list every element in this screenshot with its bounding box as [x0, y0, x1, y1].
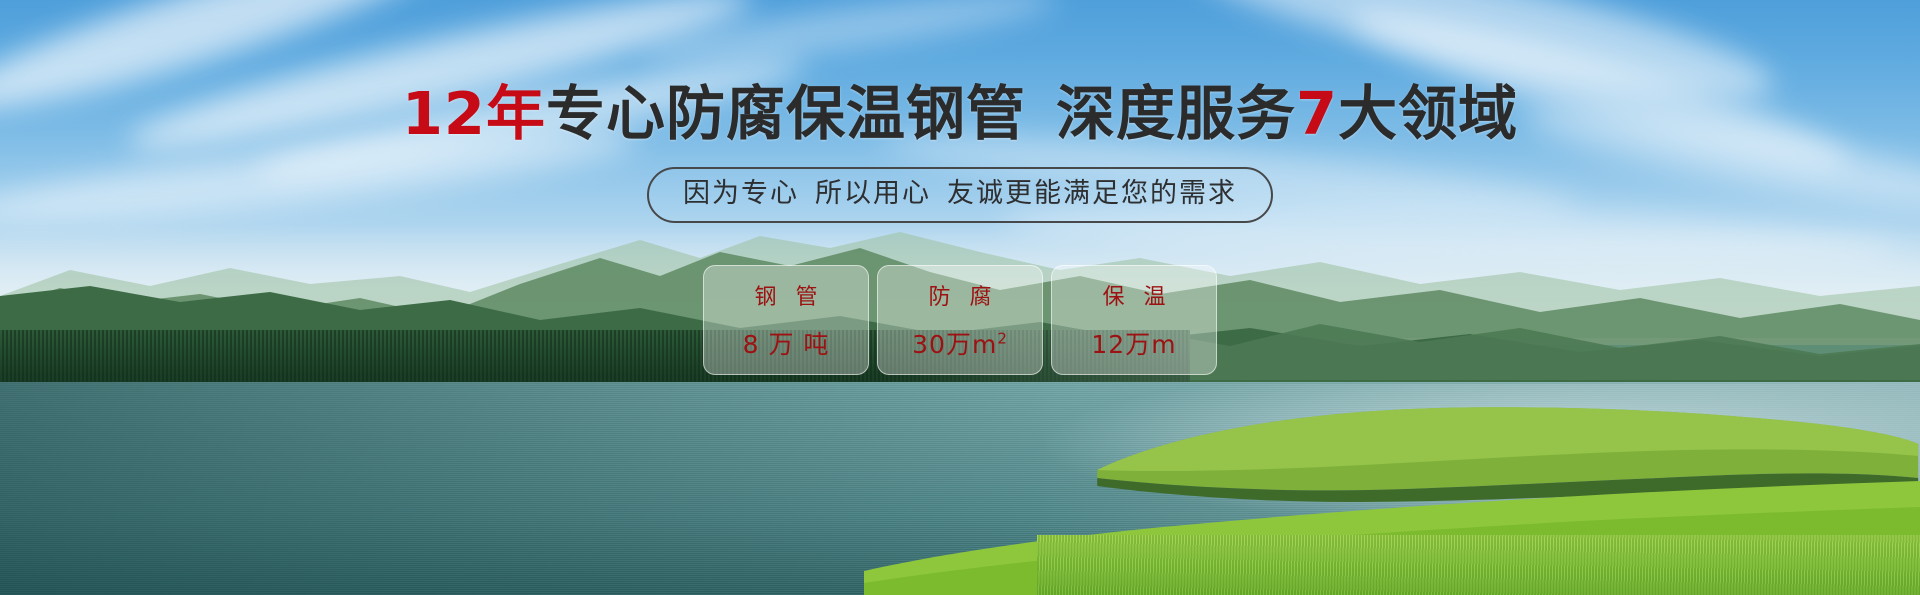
hero-banner: 12年专心防腐保温钢管深度服务7大领域 因为专心所以用心友诚更能满足您的需求 钢… — [0, 0, 1920, 595]
stat-card-label: 保 温 — [1097, 279, 1172, 311]
stat-value-text: 12万m — [1091, 330, 1176, 359]
headline-tail-text: 大领域 — [1338, 79, 1518, 148]
subtitle-part-1: 因为专心 — [683, 178, 799, 209]
banner-headline: 12年专心防腐保温钢管深度服务7大领域 — [0, 84, 1920, 143]
stat-card-group: 钢 管 8 万 吨 防 腐 30万m2 保 温 12万m — [0, 265, 1920, 375]
stat-value-superscript: 2 — [997, 330, 1008, 348]
stat-card-label: 钢 管 — [749, 279, 824, 311]
headline-years-unit: 年 — [486, 79, 546, 148]
subtitle-part-2: 所以用心 — [815, 178, 931, 209]
headline-accent-number: 7 — [1296, 79, 1338, 148]
stat-card-value: 30万m2 — [912, 325, 1008, 361]
headline-years-number: 12 — [402, 79, 486, 148]
banner-subtitle-wrap: 因为专心所以用心友诚更能满足您的需求 — [0, 167, 1920, 223]
stat-value-text: 8 万 吨 — [743, 330, 830, 359]
stat-value-text: 30万m — [912, 330, 997, 359]
stat-card-value: 8 万 吨 — [743, 325, 830, 361]
stat-card-steel-pipe: 钢 管 8 万 吨 — [703, 265, 869, 375]
headline-service-text: 深度服务 — [1056, 79, 1296, 148]
stat-card-value: 12万m — [1091, 325, 1176, 361]
stat-card-label: 防 腐 — [923, 279, 998, 311]
headline-main-text: 专心防腐保温钢管 — [546, 79, 1026, 148]
subtitle-part-3: 友诚更能满足您的需求 — [947, 178, 1237, 209]
banner-subtitle-pill: 因为专心所以用心友诚更能满足您的需求 — [647, 167, 1273, 223]
stat-card-insulation: 保 温 12万m — [1051, 265, 1217, 375]
stat-card-anticorrosion: 防 腐 30万m2 — [877, 265, 1043, 375]
banner-content: 12年专心防腐保温钢管深度服务7大领域 因为专心所以用心友诚更能满足您的需求 钢… — [0, 0, 1920, 595]
